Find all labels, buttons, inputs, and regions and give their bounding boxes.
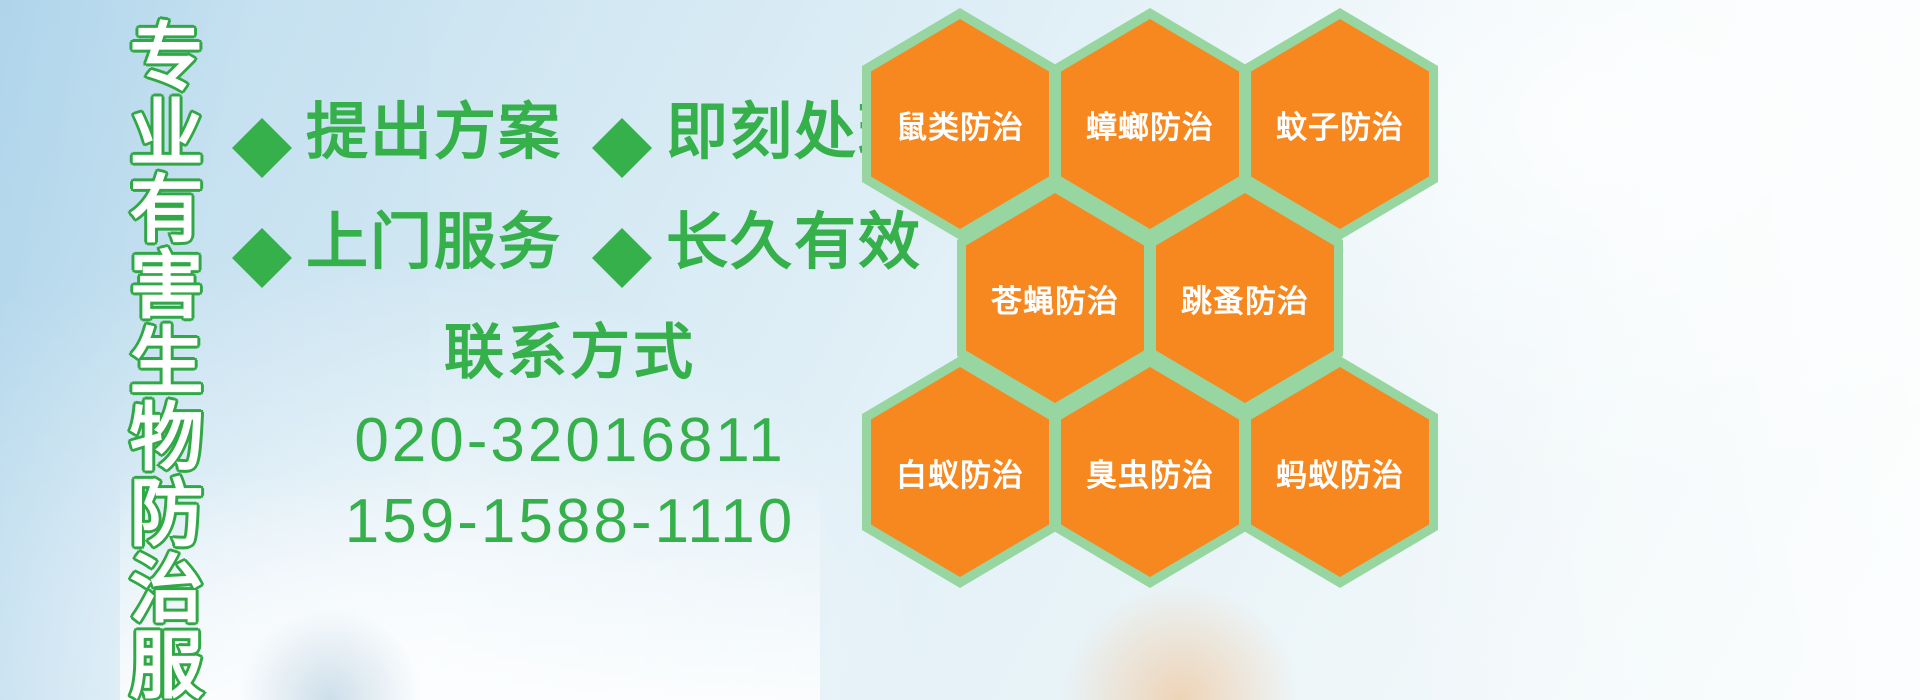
service-label: 苍蝇防治 <box>991 276 1119 321</box>
contact-block: 联系方式 020-32016811 159-1588-1110 <box>300 318 840 562</box>
hex-inner: 白蚁防治 <box>871 367 1049 577</box>
diamond-icon <box>232 88 292 148</box>
service-label: 蚊子防治 <box>1276 102 1404 147</box>
feature-label: 提出方案 <box>306 102 562 164</box>
service-label: 臭虫防治 <box>1086 450 1214 495</box>
hex-inner: 蚂蚁防治 <box>1251 367 1429 577</box>
hex-inner: 跳蚤防治 <box>1156 193 1334 403</box>
feature-item-onsite-service: 上门服务 <box>232 212 562 274</box>
pest-control-banner: 专业有害生物防治服务 提出方案 即刻处理 上门服务 长久有效 联 <box>0 0 1920 700</box>
contact-phone-mobile[interactable]: 159-1588-1110 <box>300 482 840 563</box>
contact-phone-landline[interactable]: 020-32016811 <box>300 401 840 482</box>
feature-item-propose-plan: 提出方案 <box>232 102 562 164</box>
diamond-icon <box>592 198 652 258</box>
hex-inner: 苍蝇防治 <box>966 193 1144 403</box>
service-label: 跳蚤防治 <box>1181 276 1309 321</box>
feature-label: 上门服务 <box>306 212 562 274</box>
vertical-headline: 专业有害生物防治服务 <box>108 18 194 638</box>
hex-inner: 蟑螂防治 <box>1061 19 1239 229</box>
background-glow-bottom-left <box>240 610 420 700</box>
diamond-icon <box>232 198 292 258</box>
hex-inner: 臭虫防治 <box>1061 367 1239 577</box>
hex-inner: 鼠类防治 <box>871 19 1049 229</box>
hex-inner: 蚊子防治 <box>1251 19 1429 229</box>
feature-list: 提出方案 即刻处理 上门服务 长久有效 <box>232 78 862 298</box>
feature-row: 提出方案 即刻处理 <box>232 78 862 188</box>
service-label: 鼠类防治 <box>896 102 1024 147</box>
service-label: 蟑螂防治 <box>1086 102 1214 147</box>
contact-heading: 联系方式 <box>300 318 840 387</box>
feature-row: 上门服务 长久有效 <box>232 188 862 298</box>
service-label: 白蚁防治 <box>896 450 1024 495</box>
diamond-icon <box>592 88 652 148</box>
background-streak-right <box>1400 0 1920 700</box>
service-hexagon-grid: 鼠类防治 蟑螂防治 蚊子防治 苍蝇防治 跳蚤防治 白蚁防治 <box>862 0 1462 700</box>
service-label: 蚂蚁防治 <box>1276 450 1404 495</box>
